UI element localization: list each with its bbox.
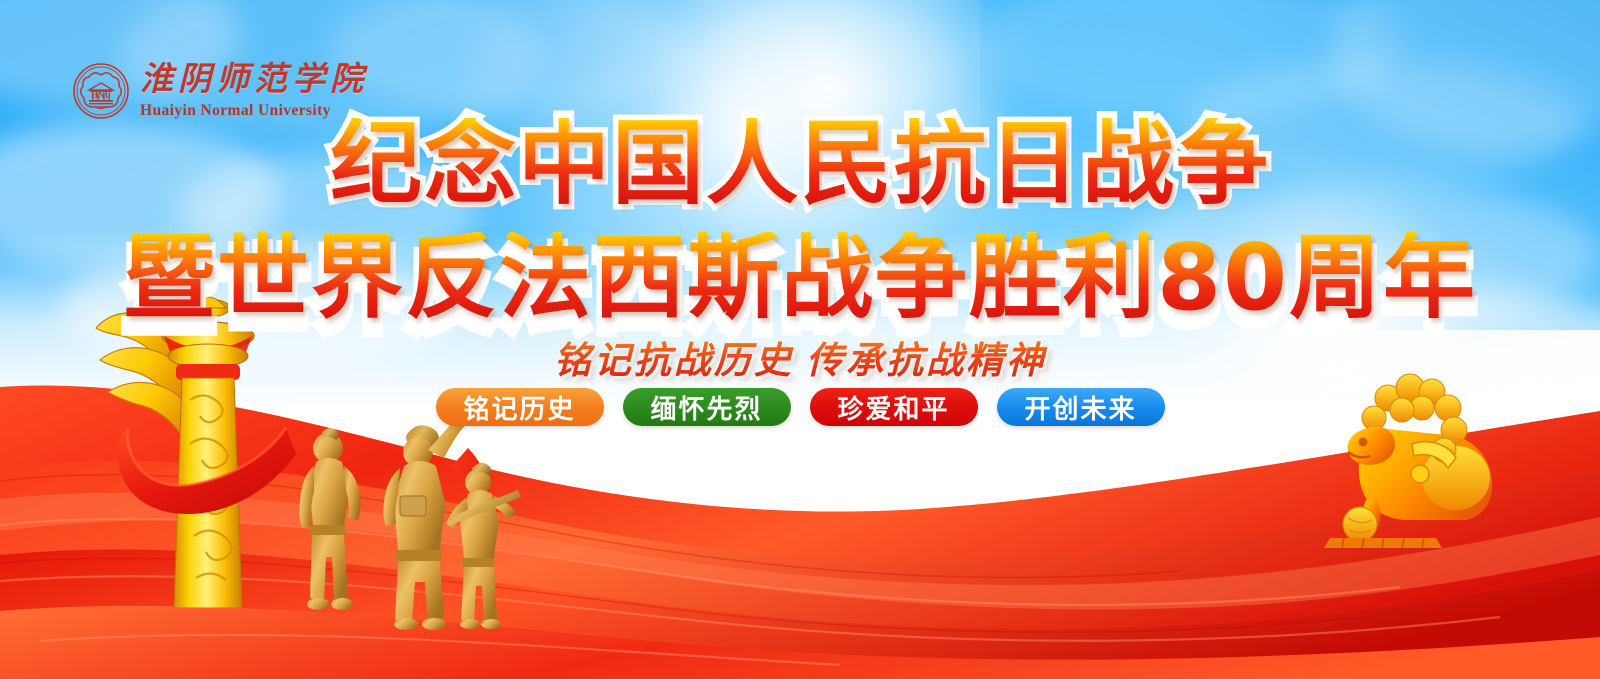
banner-subtitle: 铭记抗战历史 传承抗战精神 (0, 330, 1600, 384)
commemoration-banner: 纪念中国人民抗日战争 纪念中国人民抗日战争 暨世界反法西斯战争胜利80周年 暨世… (0, 0, 1600, 679)
hnu-seal-icon: HNU (72, 62, 130, 120)
guardian-lion-icon (1316, 358, 1516, 548)
logo-name-cn: 淮阴师范学院 (140, 64, 368, 97)
svg-text:HNU: HNU (91, 90, 112, 100)
pill-create-future[interactable]: 开创未来 (997, 388, 1165, 426)
university-logo[interactable]: HNU 淮阴师范学院 Huaiyin Normal University (72, 62, 368, 120)
huabiao-column-icon (90, 278, 300, 608)
sun-glow-icon (620, 0, 1040, 300)
logo-name-en: Huaiyin Normal University (140, 103, 368, 119)
logo-text-block: 淮阴师范学院 Huaiyin Normal University (140, 64, 368, 119)
pill-honor-martyrs[interactable]: 缅怀先烈 (623, 388, 791, 426)
pill-cherish-peace[interactable]: 珍爱和平 (810, 388, 978, 426)
slogan-pill-group: 铭记历史 缅怀先烈 珍爱和平 开创未来 (0, 388, 1600, 426)
pill-remember-history[interactable]: 铭记历史 (436, 388, 604, 426)
